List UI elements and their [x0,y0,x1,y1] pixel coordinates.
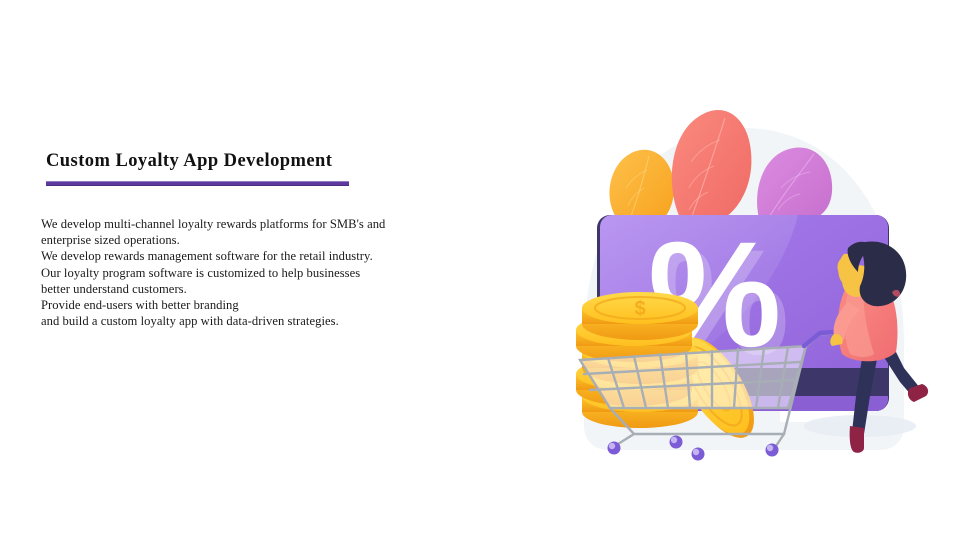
body-line: enterprise sized operations. [41,232,461,248]
body-text-block: We develop multi-channel loyalty rewards… [41,216,461,329]
text-column: Custom Loyalty App Development We develo… [46,150,466,186]
body-line: Provide end-users with better branding [41,297,461,313]
leaf-orange-icon [609,150,673,224]
svg-text:$: $ [634,298,645,320]
body-line: We develop rewards management software f… [41,248,461,264]
body-line: and build a custom loyalty app with data… [41,313,461,329]
illustration-svg: % % [548,96,940,468]
body-line: Our loyalty program software is customiz… [41,265,461,281]
page-title: Custom Loyalty App Development [46,150,466,172]
title-accent-rule [46,181,349,186]
body-line: We develop multi-channel loyalty rewards… [41,216,461,232]
loyalty-illustration: % % [548,96,940,468]
slide-canvas: Custom Loyalty App Development We develo… [0,0,960,540]
body-line: better understand customers. [41,281,461,297]
